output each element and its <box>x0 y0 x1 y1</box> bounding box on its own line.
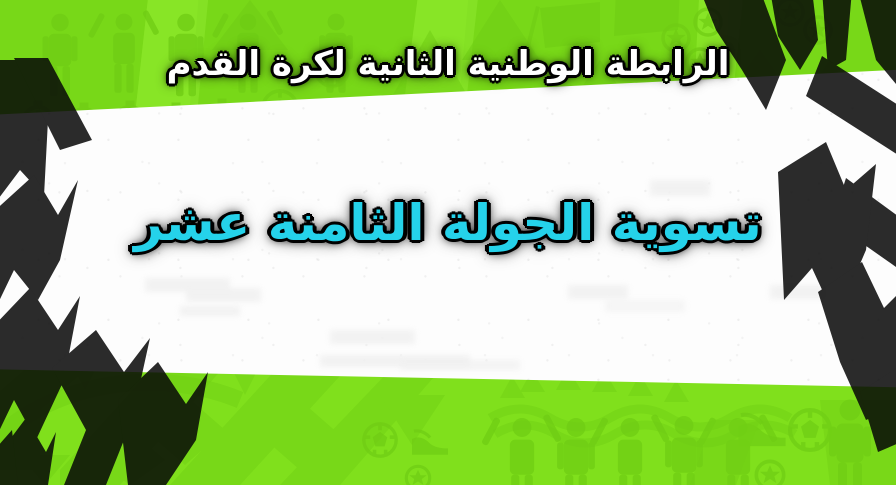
page-title: الرابطة الوطنية الثانية لكرة القدم <box>0 46 896 83</box>
headline-text: تسوية الجولة الثامنة عشر <box>0 196 896 251</box>
poster-canvas: الرابطة الوطنية الثانية لكرة القدم تسوية… <box>0 0 896 485</box>
